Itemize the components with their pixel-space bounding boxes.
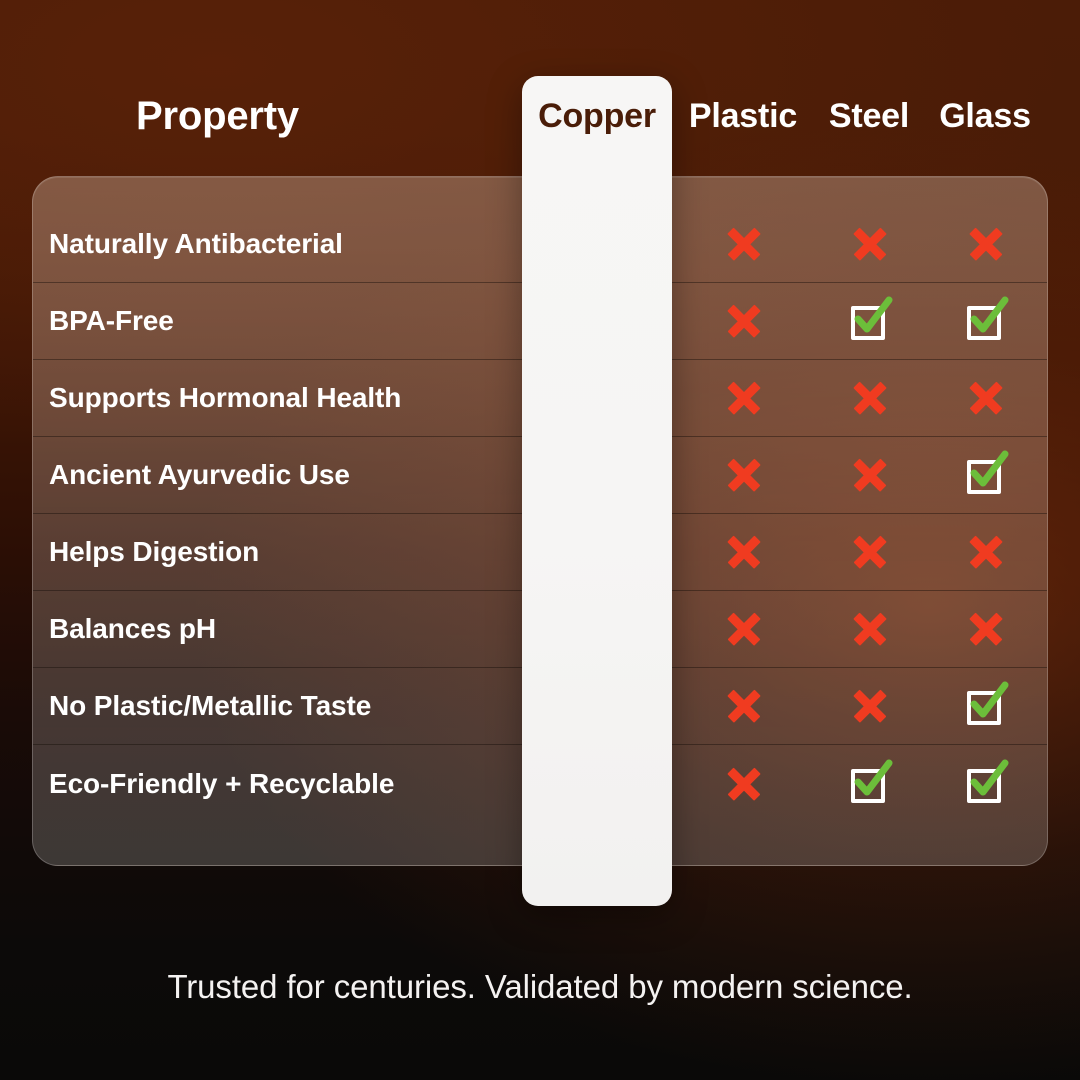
property-label: Balances pH: [49, 613, 216, 645]
property-label: BPA-Free: [49, 305, 174, 337]
column-header-glass: Glass: [905, 99, 1065, 133]
cross-mark-icon: [722, 530, 766, 574]
cross-mark-icon: [848, 530, 892, 574]
cross-mark-icon: [964, 530, 1008, 574]
cross-mark-icon: [848, 684, 892, 728]
cell-glass: [941, 299, 1031, 343]
property-label: Supports Hormonal Health: [49, 382, 401, 414]
check-box-with-check-icon: [964, 453, 1008, 497]
cell-steel: [825, 453, 915, 497]
check-box-with-check-icon: [848, 299, 892, 343]
property-label: Eco-Friendly + Recyclable: [49, 768, 394, 800]
cell-steel: [825, 684, 915, 728]
cell-plastic: [699, 684, 789, 728]
cross-mark-icon: [722, 762, 766, 806]
cell-glass: [941, 453, 1031, 497]
cell-steel: [825, 762, 915, 806]
copper-column-highlight-panel: [522, 76, 672, 906]
cross-mark-icon: [722, 453, 766, 497]
check-box-with-check-icon: [964, 762, 1008, 806]
cell-steel: [825, 299, 915, 343]
cell-glass: [941, 222, 1031, 266]
cell-steel: [825, 222, 915, 266]
cross-mark-icon: [722, 607, 766, 651]
property-label: Helps Digestion: [49, 536, 259, 568]
cell-steel: [825, 530, 915, 574]
cross-mark-icon: [848, 453, 892, 497]
check-tick-icon: [848, 295, 894, 341]
table-header: Property Copper Plastic Steel Glass: [0, 0, 1080, 176]
check-tick-icon: [848, 758, 894, 804]
cell-glass: [941, 530, 1031, 574]
cell-glass: [941, 607, 1031, 651]
footer-caption: Trusted for centuries. Validated by mode…: [0, 968, 1080, 1006]
cross-mark-icon: [964, 376, 1008, 420]
cross-mark-icon: [964, 607, 1008, 651]
cell-plastic: [699, 222, 789, 266]
cell-plastic: [699, 530, 789, 574]
comparison-infographic: Property Copper Plastic Steel Glass Natu…: [0, 0, 1080, 1080]
cross-mark-icon: [722, 299, 766, 343]
cross-mark-icon: [848, 607, 892, 651]
cell-plastic: [699, 376, 789, 420]
page-title: Property: [136, 96, 299, 136]
cell-steel: [825, 607, 915, 651]
cell-plastic: [699, 762, 789, 806]
check-box-with-check-icon: [964, 684, 1008, 728]
property-label: Ancient Ayurvedic Use: [49, 459, 350, 491]
check-box-with-check-icon: [848, 762, 892, 806]
check-tick-icon: [964, 758, 1010, 804]
cell-glass: [941, 684, 1031, 728]
cell-glass: [941, 762, 1031, 806]
check-tick-icon: [964, 295, 1010, 341]
check-box-with-check-icon: [964, 299, 1008, 343]
cell-steel: [825, 376, 915, 420]
check-tick-icon: [964, 449, 1010, 495]
cell-plastic: [699, 607, 789, 651]
property-label: Naturally Antibacterial: [49, 228, 343, 260]
cross-mark-icon: [722, 376, 766, 420]
cross-mark-icon: [964, 222, 1008, 266]
cross-mark-icon: [722, 684, 766, 728]
check-tick-icon: [964, 680, 1010, 726]
cell-glass: [941, 376, 1031, 420]
cell-plastic: [699, 299, 789, 343]
cross-mark-icon: [848, 376, 892, 420]
cross-mark-icon: [722, 222, 766, 266]
column-header-copper: Copper: [517, 99, 677, 133]
property-label: No Plastic/Metallic Taste: [49, 690, 371, 722]
cross-mark-icon: [848, 222, 892, 266]
cell-plastic: [699, 453, 789, 497]
